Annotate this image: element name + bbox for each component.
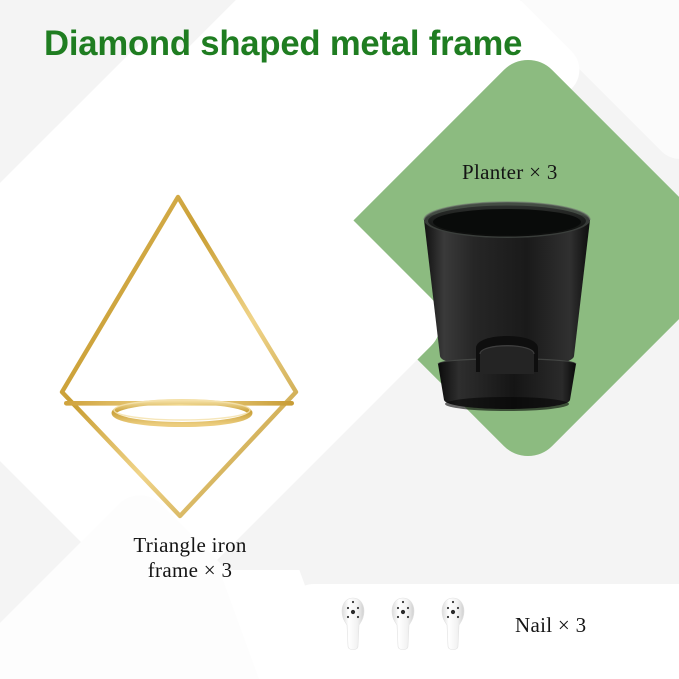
label-triangle-iron-frame: Triangle iron frame × 3	[100, 533, 280, 583]
label-triangle-iron-frame-line2: frame × 3	[100, 558, 280, 583]
white-wall-hook-nail-icon	[340, 596, 366, 654]
label-nail: Nail × 3	[515, 613, 586, 638]
white-wall-hook-nail-icon	[390, 596, 416, 654]
label-triangle-iron-frame-line1: Triangle iron	[100, 533, 280, 558]
gold-diamond-wire-frame-icon	[30, 175, 330, 535]
nail-panel-edge	[219, 570, 346, 679]
page-title: Diamond shaped metal frame	[44, 24, 658, 64]
nail-group	[340, 596, 500, 658]
white-wall-hook-nail-icon	[440, 596, 466, 654]
product-infographic: Diamond shaped metal frame	[0, 0, 679, 679]
label-planter: Planter × 3	[462, 160, 558, 185]
black-planter-pot-icon	[414, 196, 600, 424]
